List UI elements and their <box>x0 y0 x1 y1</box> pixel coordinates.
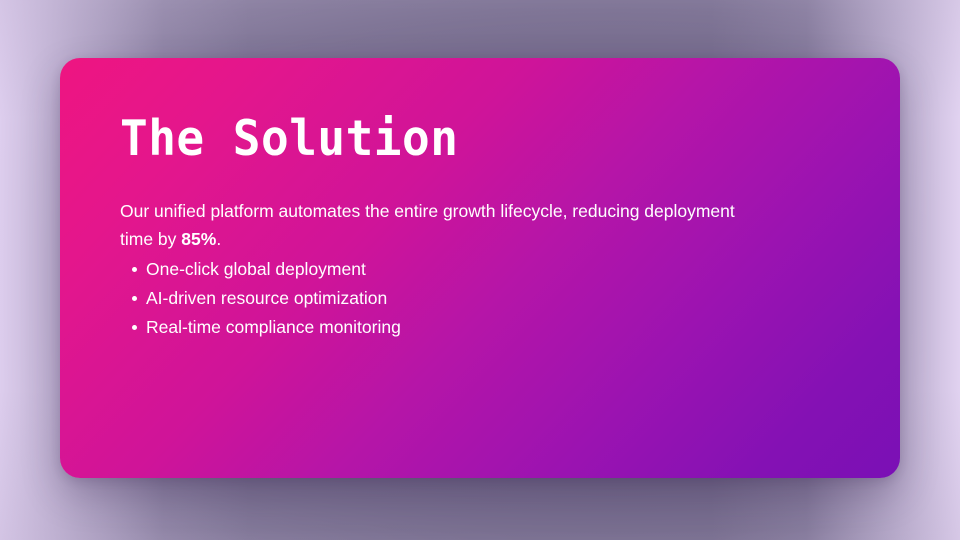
body-block: Our unified platform automates the entir… <box>120 197 766 342</box>
list-item: Real-time compliance monitoring <box>120 313 766 342</box>
benefits-bullet-list: One-click global deployment AI-driven re… <box>120 255 766 342</box>
slide-paragraph: Our unified platform automates the entir… <box>120 197 766 253</box>
paragraph-emphasis-value: 85% <box>181 229 216 249</box>
card-content: The Solution Our unified platform automa… <box>120 114 846 342</box>
paragraph-text-suffix: . <box>216 229 221 249</box>
list-item-label: One-click global deployment <box>146 259 366 279</box>
slide-root: The Solution Our unified platform automa… <box>0 0 960 540</box>
list-item: AI-driven resource optimization <box>120 284 766 313</box>
bullet-dot-icon <box>132 267 137 272</box>
list-item-label: AI-driven resource optimization <box>146 288 387 308</box>
list-item-label: Real-time compliance monitoring <box>146 317 401 337</box>
content-card: The Solution Our unified platform automa… <box>60 58 900 478</box>
bullet-dot-icon <box>132 325 137 330</box>
slide-title: The Solution <box>120 114 802 163</box>
bullet-dot-icon <box>132 296 137 301</box>
list-item: One-click global deployment <box>120 255 766 284</box>
